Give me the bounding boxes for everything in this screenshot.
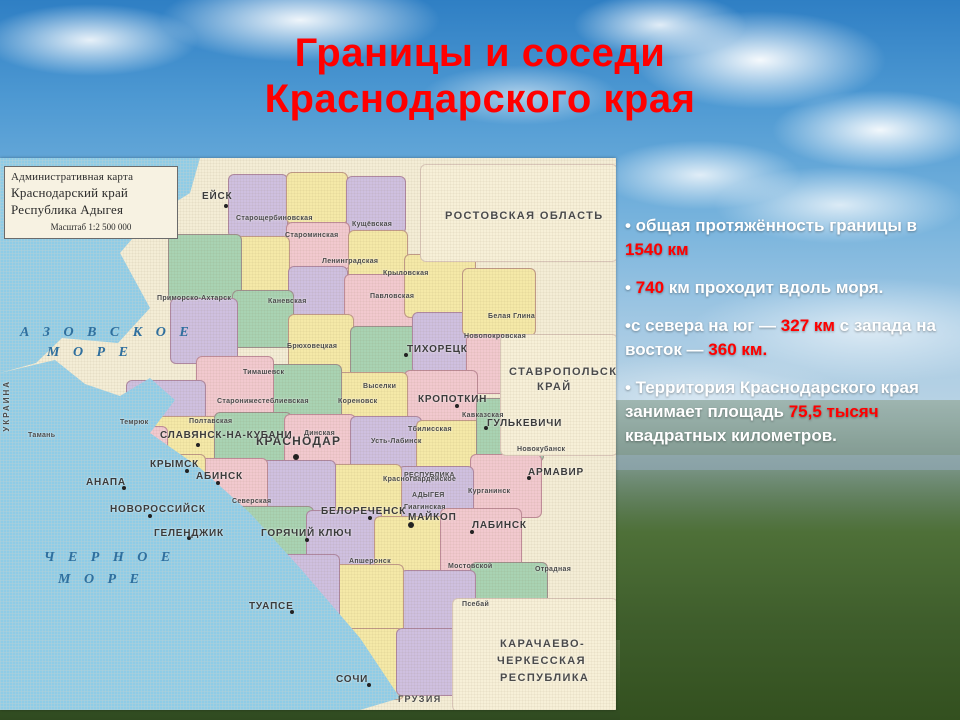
map-label-belorechensk: БЕЛОРЕЧЕНСК (321, 506, 406, 517)
map-label-starochsherbinovskaya: Старощербиновская (236, 215, 313, 222)
map-label-kchr-line2: ЧЕРКЕССКАЯ (497, 655, 586, 667)
sea-label-black-line1: Ч Е Р Н О Е (44, 550, 175, 566)
fact-2-prefix: • (625, 278, 636, 297)
map-label-giaginskaya: Гиагинская (404, 504, 446, 511)
map-label-slavyansk-na-kubani: СЛАВЯНСК-НА-КУБАНИ (160, 430, 292, 441)
map-label-kchr-line3: РЕСПУБЛИКА (500, 672, 589, 684)
sea-label-azov-line1: А З О В С К О Е (20, 325, 194, 341)
facts-text-block: • общая протяжённость границы в 1540 км … (625, 214, 953, 462)
map-label-timashevsk: Тимашевск (243, 369, 284, 376)
map-label-gulkevichi: ГУЛЬКЕВИЧИ (487, 418, 562, 429)
fact-3-value-1: 327 км (781, 316, 835, 335)
map-label-sochi: СОЧИ (336, 674, 368, 685)
map-label-tikhoretsk: ТИХОРЕЦК (407, 344, 468, 355)
slide-title: Границы и соседи Краснодарского края (150, 30, 810, 122)
map-region-kchr (452, 598, 616, 710)
fact-bullet-2: • 740 км проходит вдоль моря. (625, 276, 953, 300)
fact-2-text: км проходит вдоль моря. (664, 278, 883, 297)
map-label-severskaya: Северская (232, 498, 271, 505)
legend-line-1: Административная карта (11, 171, 171, 183)
map-label-taman: Тамань (28, 432, 55, 439)
map-label-abinsk: АБИНСК (196, 471, 243, 482)
map-label-georgia: ГРУЗИЯ (398, 694, 442, 704)
fact-3-text-1: •с севера на юг — (625, 316, 781, 335)
map-label-korenovsk: Кореновск (338, 398, 377, 405)
map-label-tuapse: ТУАПСЕ (249, 601, 294, 612)
map-label-apsheronsk: Апшеронск (349, 558, 391, 565)
map-label-adygea-line2: АДЫГЕЯ (412, 492, 445, 499)
map-district-patch (462, 268, 536, 336)
map-label-ust-labinsk: Усть-Лабинск (371, 438, 422, 445)
map-label-krylovskaya: Крыловская (383, 270, 429, 277)
fact-1-value: 1540 км (625, 240, 689, 259)
map-label-novokubansk: Новокубанск (517, 446, 565, 453)
map-label-kropotkin: КРОПОТКИН (418, 394, 487, 405)
map-label-vyselki: Выселки (363, 383, 396, 390)
slide-title-line-2: Краснодарского края (150, 76, 810, 122)
map-district-patch (196, 356, 274, 420)
fact-4-value: 75,5 тысяч (784, 402, 879, 421)
map-label-mostovskoy: Мостовской (448, 563, 493, 570)
map-label-anapa: АНАПА (86, 477, 126, 488)
sea-label-azov-line2: М О Р Е (47, 345, 133, 361)
fact-bullet-1: • общая протяжённость границы в 1540 км (625, 214, 953, 262)
fact-bullet-4: • Территория Краснодарского края занимае… (625, 376, 953, 448)
map-label-primorsko-akhtarsk: Приморско-Ахтарск (157, 295, 231, 302)
map-legend-box: Административная карта Краснодарский кра… (4, 166, 178, 239)
city-dot-yeysk (224, 204, 228, 208)
fact-bullet-3: •с севера на юг — 327 км с запада на вос… (625, 314, 953, 362)
city-dot-krasnodar (293, 454, 299, 460)
fact-3-value-2: 360 км. (708, 340, 767, 359)
map-label-otradnaya: Отрадная (535, 566, 571, 573)
map-label-belaya-glina: Белая Глина (488, 313, 535, 320)
legend-line-2: Краснодарский край (11, 185, 171, 201)
map-label-starnizhesteblievskaya: Старонижестеблиевская (217, 398, 309, 405)
slide-title-line-1: Границы и соседи (150, 30, 810, 76)
map-district-patch (168, 234, 242, 302)
map-label-tbilisskaya: Тбилисская (408, 426, 452, 433)
legend-scale: Масштаб 1:2 500 000 (11, 222, 171, 232)
sea-label-black-line2: М О Р Е (58, 572, 144, 588)
map-region-stavropol (500, 334, 616, 456)
map-label-dinskaya: Динская (304, 430, 335, 437)
map-label-kchr-line1: КАРАЧАЕВО- (500, 638, 585, 650)
map-label-stavropol-krai-line1: СТАВРОПОЛЬСКИЙ (509, 366, 616, 378)
map-label-bryukhovetskaya: Брюховецкая (287, 343, 337, 350)
map-label-starominskaya: Староминская (285, 232, 339, 239)
map-label-stavropol-krai-line2: КРАЙ (537, 381, 572, 393)
map-label-armavir: АРМАВИР (528, 467, 584, 478)
administrative-map-image: А З О В С К О Е М О Р Е Ч Е Р Н О Е М О … (0, 158, 616, 710)
map-district-patch (288, 266, 348, 320)
legend-line-3: Республика Адыгея (11, 202, 171, 218)
map-label-psebay: Псебай (462, 601, 489, 608)
map-label-kushchevskaya: Кущёвская (352, 221, 392, 228)
map-label-kurganinsk: Курганинск (468, 488, 510, 495)
map-label-novorossiysk: НОВОРОССИЙСК (110, 504, 206, 515)
fact-1-text: • общая протяжённость границы в (625, 216, 917, 235)
fact-2-value: 740 (636, 278, 664, 297)
map-label-novopokrovskaya: Новопокровская (464, 333, 526, 340)
map-label-temryuk: Темрюк (120, 419, 148, 426)
map-label-rostov-oblast: РОСТОВСКАЯ ОБЛАСТЬ (445, 210, 604, 222)
map-canvas: А З О В С К О Е М О Р Е Ч Е Р Н О Е М О … (0, 158, 616, 710)
map-label-krasnogvardeyskoe: Красногвардейское (383, 476, 456, 483)
map-label-kavkazskaya: Кавказская (462, 412, 504, 419)
foliage-photo-right (600, 470, 960, 720)
map-label-labinsk: ЛАБИНСК (472, 520, 527, 531)
map-label-goryachiy-klyuch: ГОРЯЧИЙ КЛЮЧ (261, 528, 352, 539)
map-label-yeysk: ЕЙСК (202, 191, 232, 202)
map-district-patch (236, 236, 290, 294)
city-dot-slavyansk (196, 443, 200, 447)
map-label-krymsk: КРЫМСК (150, 459, 199, 470)
fact-4-text-2: квадратных километров. (625, 426, 837, 445)
map-label-ukraine: УКРАИНА (2, 380, 11, 432)
map-label-pavlovskaya: Павловская (370, 293, 414, 300)
map-label-leningradskaya: Ленинградская (322, 258, 378, 265)
map-label-gelendzhik: ГЕЛЕНДЖИК (154, 528, 224, 539)
map-district-patch (228, 174, 288, 238)
map-label-maykop: МАЙКОП (408, 512, 457, 523)
map-label-kanevskaya: Каневская (268, 298, 307, 305)
map-label-poltavskaya: Полтавская (189, 418, 232, 425)
